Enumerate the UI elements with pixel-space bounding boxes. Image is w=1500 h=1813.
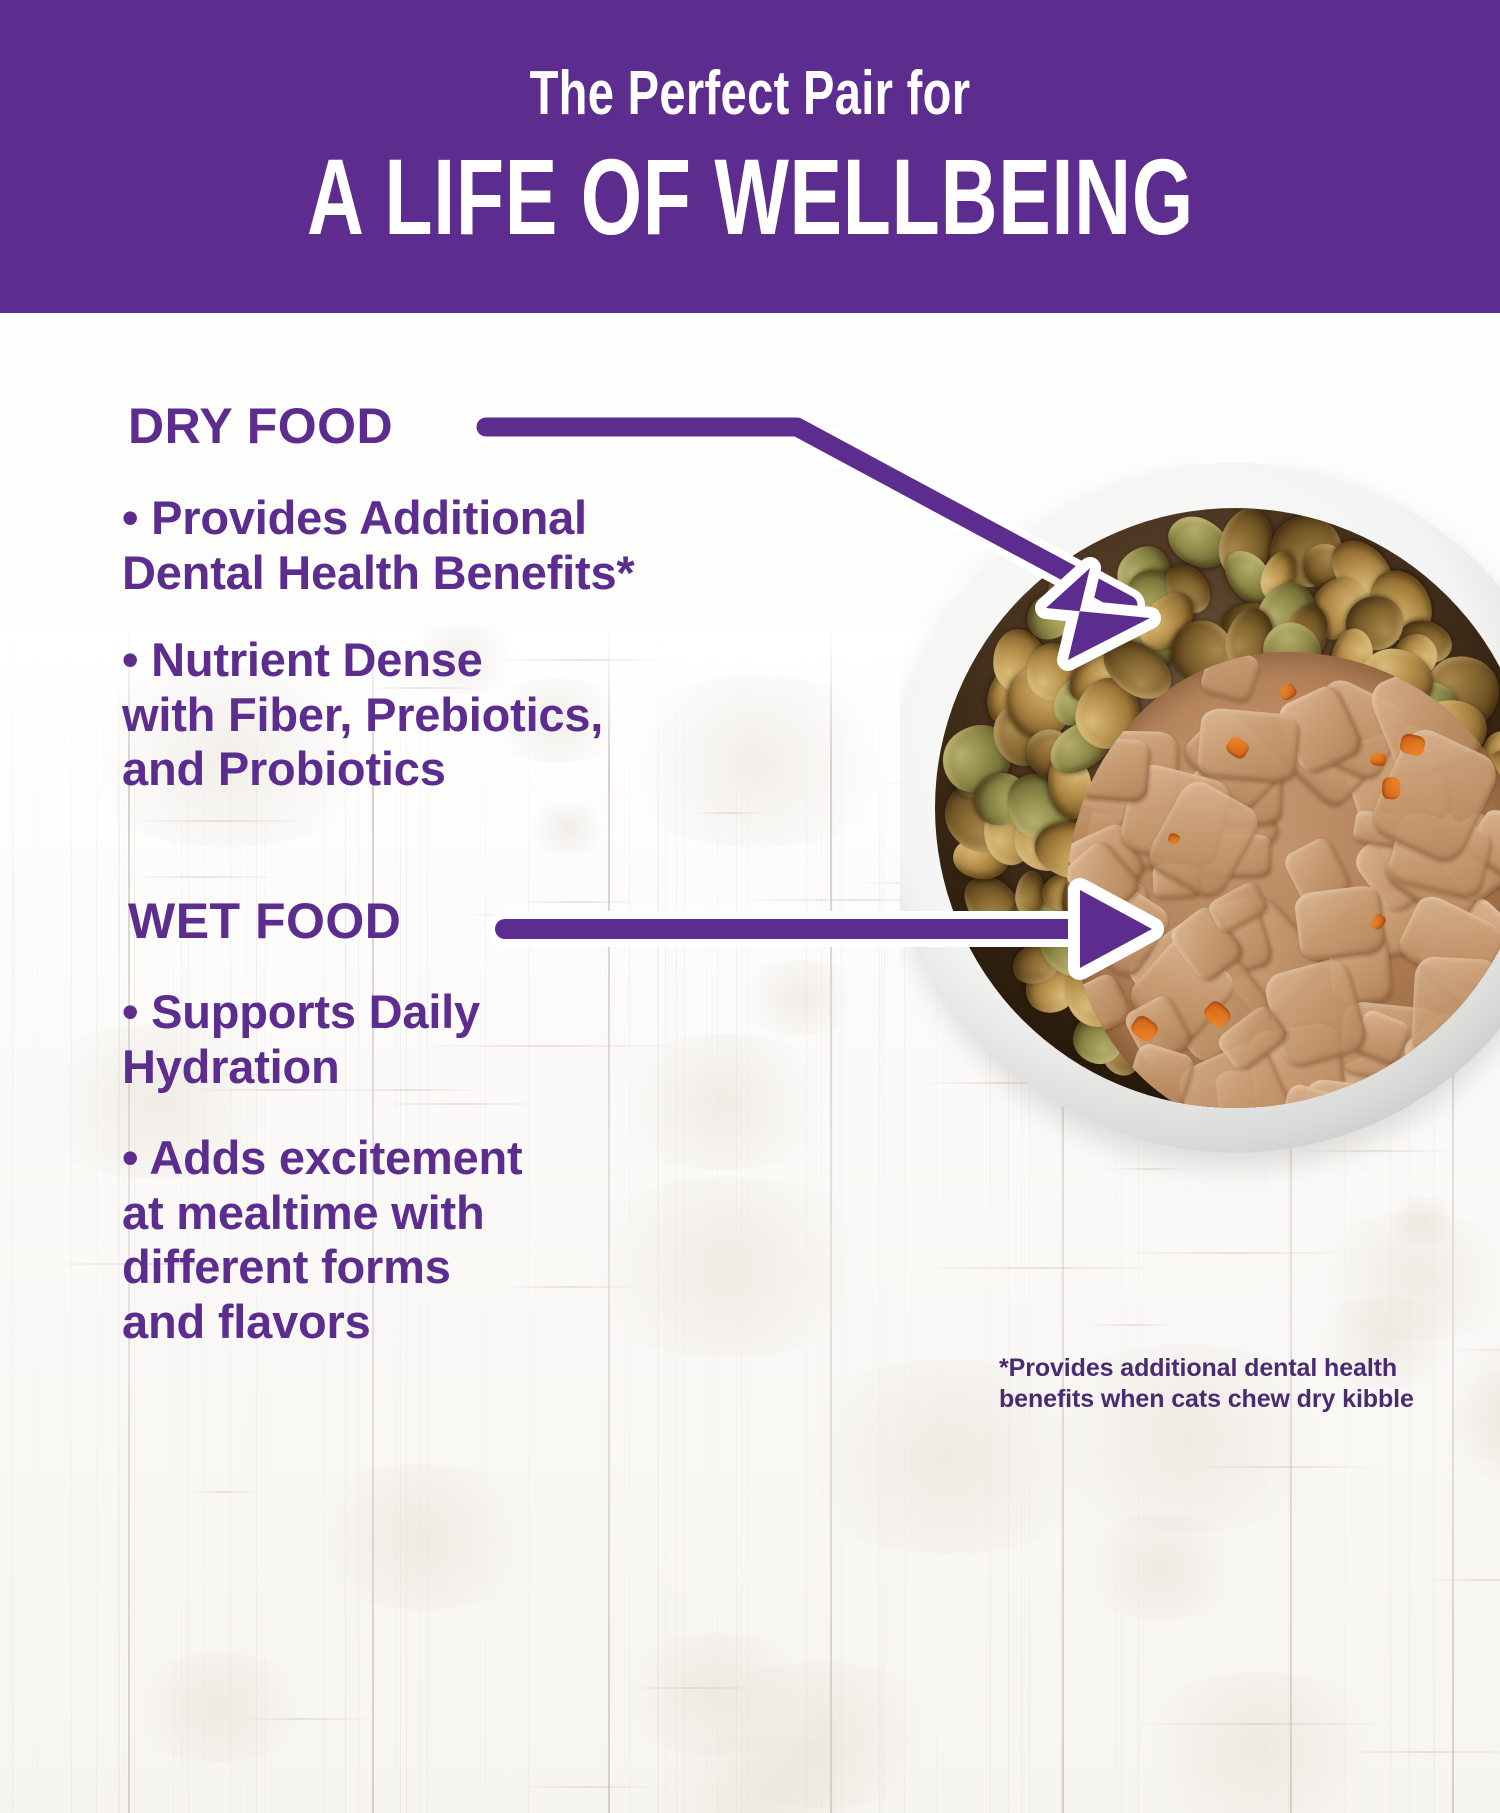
wood-grain-line <box>1121 626 1122 1813</box>
wood-streak <box>626 1687 762 1689</box>
wood-streak <box>1350 750 1500 752</box>
header-eyebrow-text: The Perfect Pair for <box>530 63 971 125</box>
wood-grain-line <box>37 626 38 1813</box>
kibble-piece <box>1268 514 1344 589</box>
wood-streak <box>1332 1035 1411 1037</box>
wood-streak <box>463 914 629 916</box>
wood-blotch <box>1379 1197 1465 1244</box>
wood-grain-line <box>71 626 72 1813</box>
wood-streak <box>239 1718 370 1720</box>
wood-streak <box>738 899 959 901</box>
wood-streak <box>694 812 766 814</box>
bullet-wet-2: • Adds excitement at mealtime with diffe… <box>122 1131 522 1349</box>
kibble-piece <box>1211 508 1280 585</box>
wood-streak <box>1086 1324 1175 1326</box>
wood-blotch <box>606 1633 827 1754</box>
kibble-piece <box>1116 561 1191 636</box>
wood-grain-line <box>11 626 12 1813</box>
wood-streak <box>1330 1751 1500 1753</box>
kibble-piece <box>1295 536 1355 597</box>
kibble-piece <box>1106 536 1181 611</box>
wood-grain-line <box>936 626 937 1813</box>
kibble-piece <box>1215 541 1285 614</box>
wood-blotch <box>1066 1515 1256 1619</box>
page-title: A LIFE OF WELLBEING <box>307 143 1194 251</box>
footnote-text: *Provides additional dental health benef… <box>999 1353 1429 1414</box>
kibble-piece <box>1319 528 1405 617</box>
wood-grain-line <box>1138 626 1139 1813</box>
wood-blotch <box>599 1034 847 1170</box>
wood-grain-line <box>528 626 529 1813</box>
wood-blotch <box>120 1653 318 1762</box>
wood-grain-line <box>904 626 905 1813</box>
bullet-dry-2: • Nutrient Dense with Fiber, Prebiotics,… <box>122 633 603 797</box>
kibble-piece <box>1160 508 1239 579</box>
wood-streak <box>1296 1150 1455 1152</box>
wood-grain-line <box>13 626 14 1813</box>
section-heading-dry-food: DRY FOOD <box>128 401 393 451</box>
wood-streak <box>128 820 313 822</box>
wood-streak <box>878 783 999 785</box>
wood-blotch <box>1121 1672 1398 1813</box>
wood-streak <box>921 1267 1160 1269</box>
kibble-piece <box>1254 546 1301 604</box>
section-heading-wet-food: WET FOOD <box>128 896 401 946</box>
wood-blotch <box>523 804 613 853</box>
kibble-piece <box>1156 556 1219 622</box>
wood-blotch <box>732 960 868 1035</box>
bullet-wet-1: • Supports Daily Hydration <box>122 985 480 1094</box>
wood-streak <box>129 876 280 878</box>
bullet-dry-1: • Provides Additional Dental Health Bene… <box>122 491 635 600</box>
wood-streak <box>503 1286 636 1288</box>
wood-streak <box>1112 1168 1185 1170</box>
wood-streak <box>1115 1252 1357 1254</box>
wood-streak <box>1185 1466 1381 1468</box>
wood-blotch <box>289 1464 553 1609</box>
wood-streak <box>191 1491 258 1493</box>
wood-streak <box>520 1786 657 1788</box>
wood-blotch <box>955 786 1078 854</box>
wood-blotch <box>564 1177 892 1357</box>
wood-streak <box>376 1103 543 1105</box>
wood-blotch <box>600 676 912 848</box>
wood-streak <box>518 901 639 903</box>
wood-streak <box>1419 1579 1500 1581</box>
wood-grain-line <box>1186 626 1187 1813</box>
header-banner: The Perfect Pair for A LIFE OF WELLBEING <box>0 0 1500 313</box>
wood-streak <box>1131 1723 1394 1725</box>
kibble-piece <box>1037 558 1111 632</box>
wood-grain-line <box>1115 626 1116 1813</box>
wood-blotch <box>1185 798 1376 903</box>
wood-grain-line <box>1344 626 1345 1813</box>
content-area: DRY FOOD • Provides Additional Dental He… <box>0 313 1500 1500</box>
wood-streak <box>915 1082 1091 1084</box>
wood-streak <box>854 882 1029 884</box>
wood-streak <box>1442 1349 1500 1351</box>
